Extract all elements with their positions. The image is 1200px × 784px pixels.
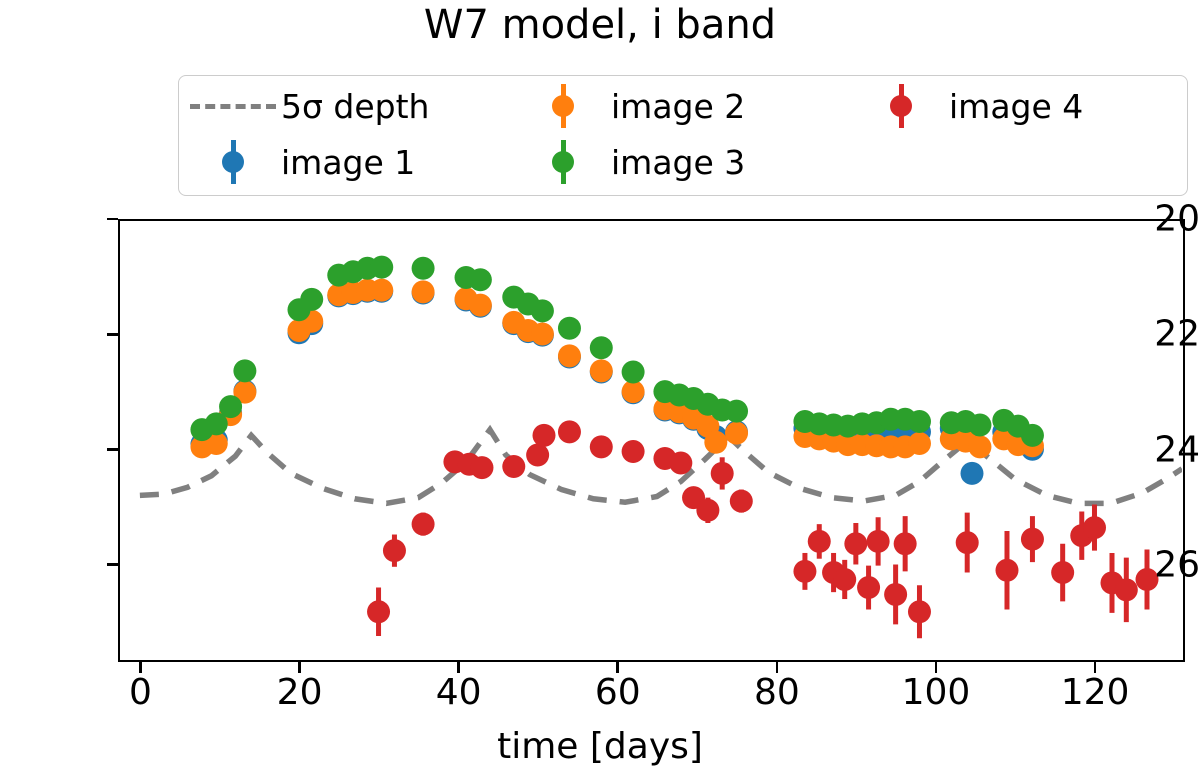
- data-point: [968, 414, 991, 437]
- x-tick-label: 20: [277, 672, 323, 713]
- data-point: [622, 360, 645, 383]
- point-marker-icon-green: [515, 140, 611, 184]
- data-point: [968, 435, 991, 458]
- data-point: [833, 568, 856, 591]
- y-tick-mark: [107, 333, 118, 336]
- legend-entry-image-2: image 2: [515, 84, 853, 128]
- y-tick-label: 26: [1112, 544, 1200, 585]
- data-point: [1051, 561, 1074, 584]
- data-point: [867, 530, 890, 553]
- data-point: [469, 294, 492, 317]
- data-point: [1021, 424, 1044, 447]
- data-point: [502, 455, 525, 478]
- legend-row-top: 5σ depth image 2 image 4: [185, 84, 1083, 128]
- x-tick-label: 0: [129, 672, 152, 713]
- figure-canvas: W7 model, i band 5σ depth image 2 image …: [0, 0, 1200, 784]
- data-point: [894, 532, 917, 555]
- data-point: [367, 600, 390, 623]
- data-point: [956, 531, 979, 554]
- series-image-3: [190, 256, 1043, 447]
- legend-entry-depth: 5σ depth: [185, 87, 515, 126]
- legend-label-image-1: image 1: [281, 143, 415, 182]
- x-tick-label: 120: [1061, 672, 1130, 713]
- data-point: [908, 410, 931, 433]
- data-point: [233, 359, 256, 382]
- x-tick-mark: [1094, 662, 1097, 673]
- data-point: [808, 530, 831, 553]
- data-point: [219, 395, 242, 418]
- data-point: [908, 600, 931, 623]
- data-point: [469, 268, 492, 291]
- data-point: [590, 359, 613, 382]
- x-tick-label: 100: [902, 672, 971, 713]
- page-title: W7 model, i band: [0, 2, 1200, 48]
- data-point: [725, 422, 748, 445]
- x-axis-label: time [days]: [0, 726, 1200, 767]
- plot-svg: [120, 221, 1182, 659]
- x-tick-mark: [776, 662, 779, 673]
- data-point: [793, 560, 816, 583]
- legend-entry-image-1: image 1: [185, 140, 515, 184]
- data-point: [531, 322, 554, 345]
- legend-label-image-2: image 2: [611, 87, 745, 126]
- data-point: [622, 380, 645, 403]
- data-point: [590, 336, 613, 359]
- data-point: [531, 299, 554, 322]
- y-tick-label: 20: [1112, 199, 1200, 240]
- data-point: [844, 532, 867, 555]
- data-point: [558, 317, 581, 340]
- data-point: [960, 462, 983, 485]
- data-point: [696, 499, 719, 522]
- x-tick-label: 60: [595, 672, 641, 713]
- data-point: [412, 257, 435, 280]
- data-point: [558, 420, 581, 443]
- data-point: [558, 344, 581, 367]
- data-point: [711, 462, 734, 485]
- point-marker-icon-blue: [185, 140, 281, 184]
- y-tick-mark: [107, 448, 118, 451]
- data-point: [669, 452, 692, 475]
- data-point: [470, 456, 493, 479]
- legend-entry-image-4: image 4: [853, 84, 1083, 128]
- data-point: [370, 256, 393, 279]
- data-point: [704, 431, 727, 454]
- data-point: [412, 280, 435, 303]
- data-point: [995, 559, 1018, 582]
- data-point: [383, 539, 406, 562]
- data-point: [1021, 528, 1044, 551]
- plot-area: [118, 219, 1185, 662]
- data-point: [857, 576, 880, 599]
- x-tick-label: 80: [754, 672, 800, 713]
- data-point: [725, 400, 748, 423]
- legend-row-bottom: image 1 image 3: [185, 140, 853, 184]
- y-tick-label: 24: [1112, 429, 1200, 470]
- y-tick-mark: [107, 563, 118, 566]
- data-point: [1083, 516, 1106, 539]
- data-point: [730, 490, 753, 513]
- x-tick-mark: [298, 662, 301, 673]
- x-tick-mark: [935, 662, 938, 673]
- legend-label-image-4: image 4: [949, 87, 1083, 126]
- data-point: [300, 288, 323, 311]
- data-point: [884, 583, 907, 606]
- point-marker-icon-red: [853, 84, 949, 128]
- y-tick-mark: [107, 218, 118, 221]
- y-tick-label: 22: [1112, 314, 1200, 355]
- x-tick-label: 40: [436, 672, 482, 713]
- data-point: [622, 440, 645, 463]
- data-point: [526, 443, 549, 466]
- data-point: [590, 435, 613, 458]
- legend-label-depth: 5σ depth: [281, 87, 429, 126]
- x-tick-mark: [139, 662, 142, 673]
- data-point: [370, 279, 393, 302]
- data-point: [908, 432, 931, 455]
- point-marker-icon-orange: [515, 84, 611, 128]
- x-tick-mark: [457, 662, 460, 673]
- dashed-line-icon: [185, 104, 281, 109]
- x-tick-mark: [616, 662, 619, 673]
- legend-entry-image-3: image 3: [515, 140, 853, 184]
- legend-label-image-3: image 3: [611, 143, 745, 182]
- data-point: [412, 513, 435, 536]
- data-point: [533, 424, 556, 447]
- chart-legend: 5σ depth image 2 image 4 image 1: [178, 75, 1188, 196]
